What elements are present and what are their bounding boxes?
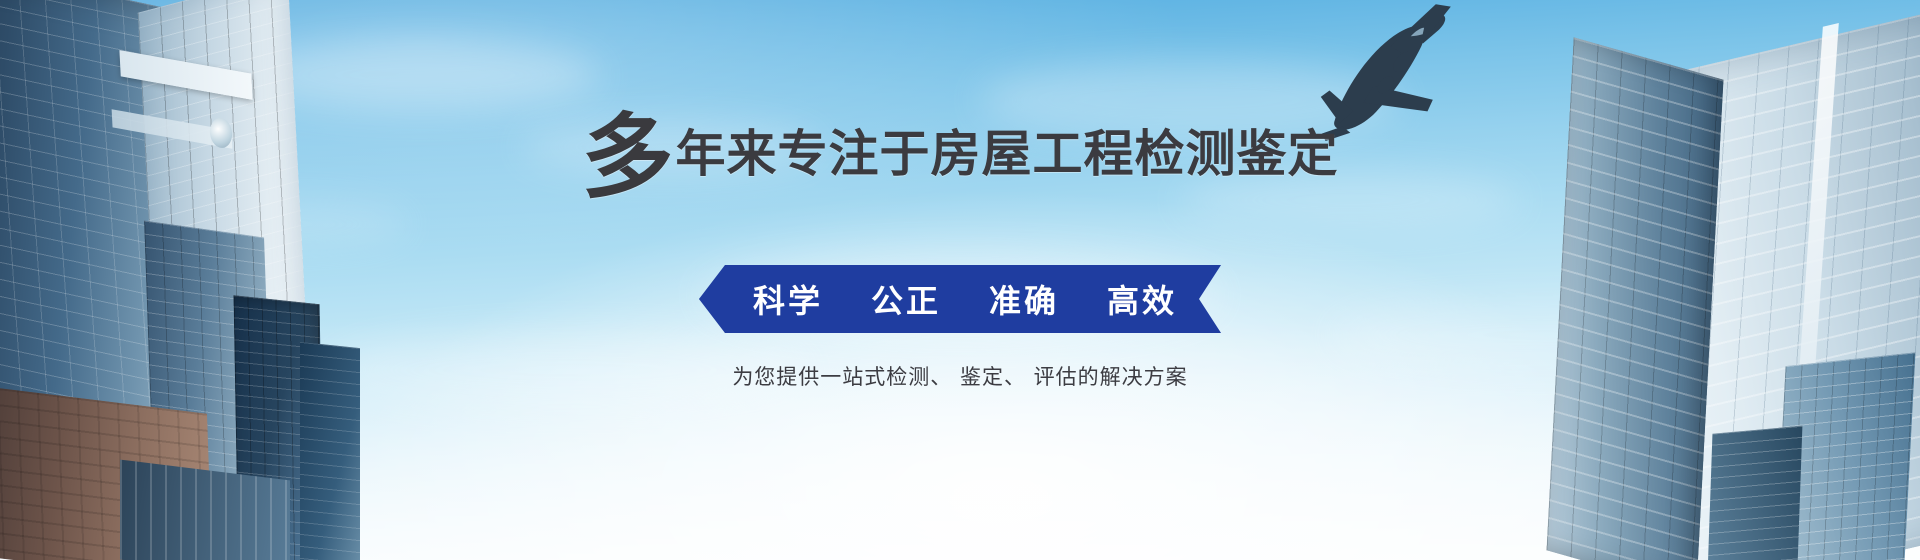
headline-lead-character: 多 (581, 116, 673, 200)
keyword-ribbon-wrapper: 科学 公正 准确 高效 (0, 265, 1920, 333)
banner-content: 多 年来专注于房屋工程检测鉴定 科学 公正 准确 高效 为您提供一站式检测、 鉴… (0, 0, 1920, 560)
keyword-list: 科学 公正 准确 高效 (753, 276, 1177, 322)
keyword-item: 公正 (871, 276, 941, 322)
keyword-item: 高效 (1107, 276, 1177, 322)
hero-banner: 多 年来专注于房屋工程检测鉴定 科学 公正 准确 高效 为您提供一站式检测、 鉴… (0, 0, 1920, 560)
keyword-ribbon: 科学 公正 准确 高效 (699, 265, 1221, 333)
headline: 多 年来专注于房屋工程检测鉴定 (0, 112, 1920, 196)
keyword-item: 科学 (753, 276, 823, 322)
keyword-item: 准确 (989, 276, 1059, 322)
subtitle: 为您提供一站式检测、 鉴定、 评估的解决方案 (0, 361, 1920, 391)
headline-text: 年来专注于房屋工程检测鉴定 (676, 126, 1339, 182)
